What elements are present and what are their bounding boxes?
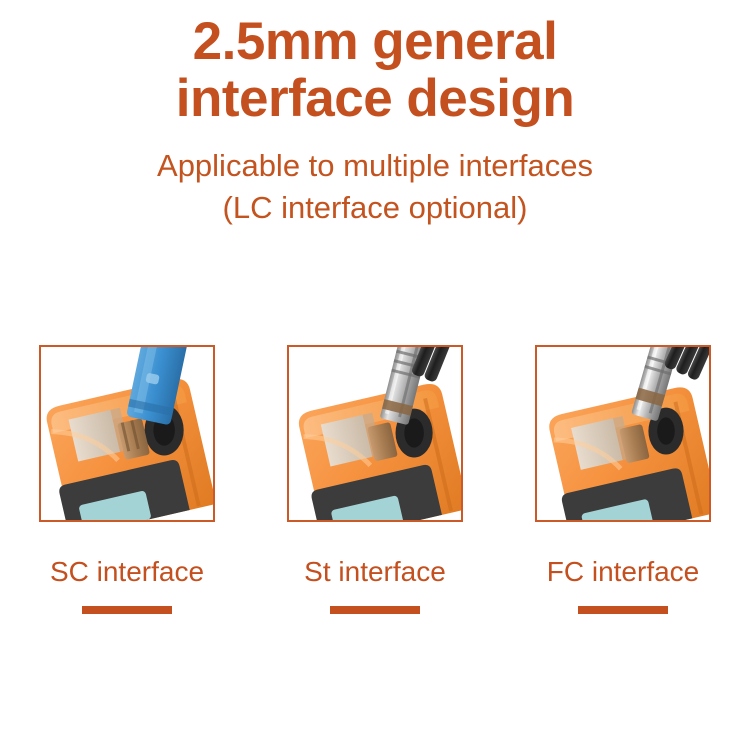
card-underline-fc: [578, 606, 668, 614]
card-label-sc: SC interface: [50, 558, 204, 586]
interface-card-fc: FC interface: [535, 345, 711, 614]
st-interface-photo: [287, 345, 463, 522]
card-label-fc: FC interface: [547, 558, 700, 586]
subtitle-line-2: (LC interface optional): [0, 187, 750, 228]
header: 2.5mm general interface design Applicabl…: [0, 0, 750, 228]
sc-interface-photo: [39, 345, 215, 522]
fc-interface-photo: [535, 345, 711, 522]
headline-line-2: interface design: [0, 71, 750, 128]
interface-card-st: St interface: [287, 345, 463, 614]
interface-card-sc: SC interface: [39, 345, 215, 614]
headline-line-1: 2.5mm general: [0, 14, 750, 71]
card-label-st: St interface: [304, 558, 446, 586]
page-title: 2.5mm general interface design: [0, 14, 750, 127]
subtitle-line-1: Applicable to multiple interfaces: [0, 145, 750, 186]
card-underline-st: [330, 606, 420, 614]
card-underline-sc: [82, 606, 172, 614]
page-subtitle: Applicable to multiple interfaces (LC in…: [0, 145, 750, 227]
interface-cards-row: SC interface: [0, 345, 750, 614]
